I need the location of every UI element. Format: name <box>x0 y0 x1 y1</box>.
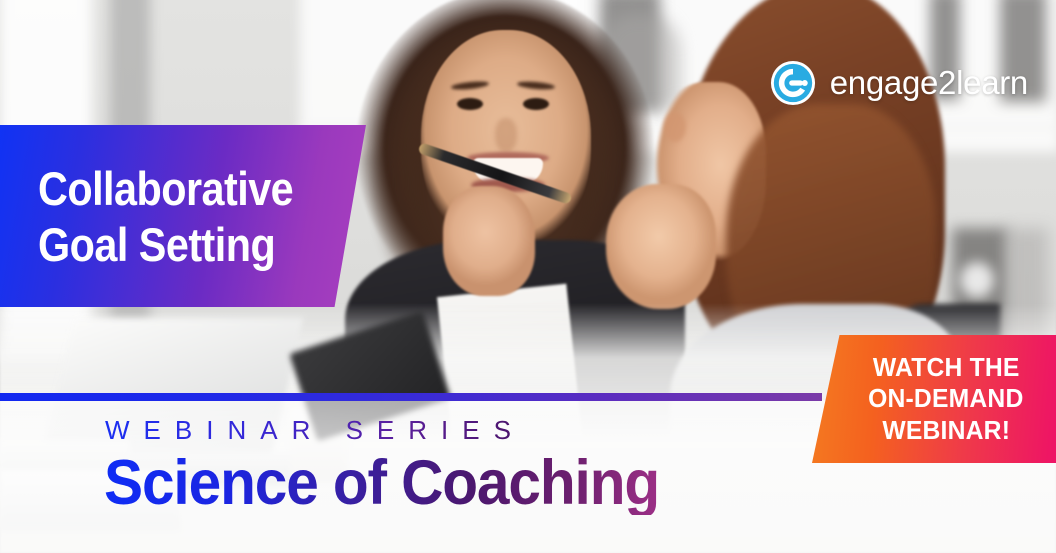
ear <box>664 112 686 142</box>
title-line-1: Collaborative <box>38 165 327 212</box>
cta-line-3: WEBINAR! <box>882 416 1010 445</box>
watch-webinar-cta[interactable]: WATCH THE ON-DEMAND WEBINAR! <box>812 335 1056 463</box>
webinar-series-kicker: WEBINAR SERIES <box>105 415 525 446</box>
title-line-2: Goal Setting <box>38 221 327 268</box>
brand-name: engage2learn <box>830 64 1028 102</box>
hand <box>443 186 535 296</box>
gradient-divider <box>0 393 822 401</box>
promo-banner: Collaborative Goal Setting engage2learn … <box>0 0 1056 553</box>
engage2learn-circle-e-icon <box>770 60 816 106</box>
brand-logo: engage2learn <box>770 60 1028 106</box>
eye <box>523 98 549 110</box>
title-banner: Collaborative Goal Setting <box>0 125 366 307</box>
cta-line-2: ON-DEMAND <box>868 384 1023 413</box>
eye <box>457 98 483 110</box>
nose <box>495 118 517 152</box>
hand <box>606 184 716 309</box>
cta-line-1: WATCH THE <box>873 353 1020 382</box>
show-title: Science of Coaching <box>104 452 659 515</box>
